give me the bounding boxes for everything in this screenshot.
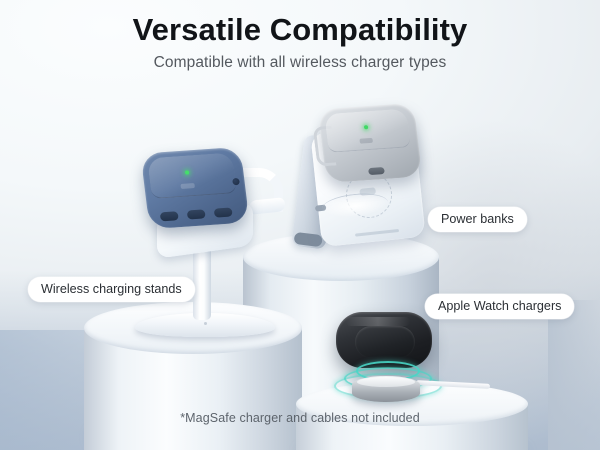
- gray-earbuds-case: [318, 103, 423, 183]
- header: Versatile Compatibility Compatible with …: [0, 12, 600, 72]
- power-bank-label-strip: [355, 229, 399, 237]
- page-subtitle: Compatible with all wireless charger typ…: [0, 54, 600, 72]
- blue-earbuds-case: [140, 147, 249, 229]
- black-earbuds-case: [336, 312, 432, 368]
- case-logo: [359, 138, 373, 144]
- puck-face: [357, 377, 415, 387]
- grill-slot: [214, 207, 233, 217]
- stand-arm-pad: [249, 197, 285, 215]
- grill-slot: [160, 211, 179, 221]
- apple-watch-charger-product: [330, 312, 450, 398]
- case-inner-panel: [355, 326, 415, 358]
- page-title: Versatile Compatibility: [0, 12, 600, 49]
- grill-slot: [187, 209, 206, 219]
- callout-wireless-charging-stands: Wireless charging stands: [28, 277, 195, 302]
- case-speaker-grill: [160, 206, 233, 222]
- footnote-disclaimer: *MagSafe charger and cables not included: [0, 411, 600, 425]
- callout-apple-watch-chargers: Apple Watch chargers: [425, 294, 574, 319]
- case-lid: [324, 108, 411, 152]
- callout-power-banks: Power banks: [428, 207, 527, 232]
- pedestal-far-right: [548, 300, 600, 450]
- case-lid: [147, 152, 237, 199]
- usb-c-port-icon: [368, 167, 385, 175]
- wireless-charging-stand-product: [133, 146, 283, 336]
- case-highlight: [346, 317, 410, 326]
- case-logo: [180, 183, 195, 189]
- apple-watch-charging-puck: [352, 376, 420, 402]
- power-bank-product: [300, 110, 426, 250]
- product-feature-image: Versatile Compatibility Compatible with …: [0, 0, 600, 450]
- case-side-button: [232, 178, 240, 185]
